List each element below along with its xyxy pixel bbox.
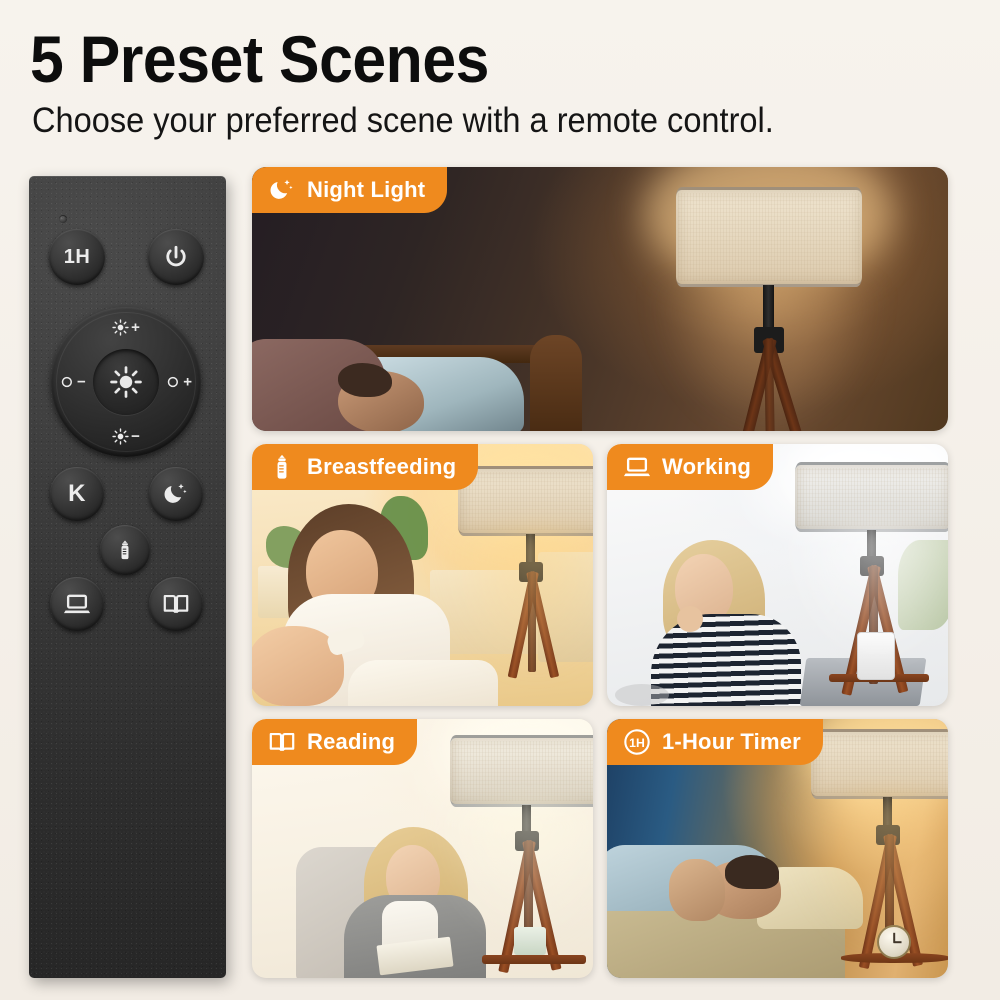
open-book-icon: [268, 728, 296, 756]
lamp-shade: [795, 462, 948, 532]
laptop-icon: [63, 590, 91, 618]
page-title: 5 Preset Scenes: [30, 26, 489, 92]
remote-button-k-label: K: [68, 480, 86, 508]
remote-button-reading[interactable]: [149, 577, 203, 631]
page-subtitle: Choose your preferred scene with a remot…: [32, 103, 774, 138]
timer-1h-icon: 1H: [623, 728, 651, 756]
scene-label-reading: Reading: [307, 729, 395, 755]
scene-badge-breastfeeding[interactable]: Breastfeeding: [252, 444, 478, 490]
remote-button-breastfeeding[interactable]: [100, 525, 150, 575]
alarm-clock: [877, 925, 911, 959]
lamp-shade: [676, 187, 862, 287]
led-indicator-icon: [59, 215, 67, 223]
woman-hand: [677, 606, 703, 632]
lamp-shelf: [482, 955, 586, 964]
striped-shirt: [651, 614, 801, 706]
remote-dpad[interactable]: + − − +: [51, 307, 201, 457]
remote-button-working[interactable]: [50, 577, 104, 631]
lamp-remote-control[interactable]: 1H +: [29, 176, 226, 978]
open-book-icon: [162, 590, 190, 618]
scene-badge-working[interactable]: Working: [607, 444, 773, 490]
scene-label-one-hour-timer: 1-Hour Timer: [662, 729, 801, 755]
dpad-color-temp-down[interactable]: −: [60, 374, 86, 391]
remote-button-k[interactable]: K: [50, 467, 104, 521]
pencil-cup: [514, 927, 546, 955]
lamp-shade: [458, 466, 593, 536]
scene-badge-one-hour-timer[interactable]: 1H 1-Hour Timer: [607, 719, 823, 765]
dpad-brightness-up[interactable]: +: [51, 319, 201, 336]
product-feature-graphic: 5 Preset Scenes Choose your preferred sc…: [0, 0, 1000, 1000]
dpad-down-label: −: [131, 428, 140, 445]
dpad-up-label: +: [131, 319, 140, 336]
brightness-sun-icon: [109, 365, 143, 399]
brightness-down-icon: [112, 428, 129, 445]
scene-label-breastfeeding: Breastfeeding: [307, 454, 456, 480]
moon-stars-icon: [162, 480, 190, 508]
scene-card-one-hour-timer[interactable]: 1H 1-Hour Timer: [607, 719, 948, 978]
scene-badge-reading[interactable]: Reading: [252, 719, 417, 765]
brightness-up-icon: [112, 319, 129, 336]
lamp-shade: [450, 735, 593, 807]
desk-object: [615, 684, 669, 706]
remote-button-1h-label: 1H: [64, 246, 91, 269]
dpad-center-button[interactable]: [93, 349, 159, 415]
color-temp-up-icon: [166, 375, 181, 390]
scene-label-working: Working: [662, 454, 751, 480]
remote-button-power[interactable]: [148, 229, 204, 285]
bed-headboard: [530, 335, 582, 431]
tripod-floor-lamp: [797, 725, 948, 977]
remote-button-1h[interactable]: 1H: [49, 229, 105, 285]
scene-card-night-light[interactable]: Night Light: [252, 167, 948, 431]
scene-badge-night-light[interactable]: Night Light: [252, 167, 447, 213]
dpad-color-temp-up[interactable]: +: [166, 374, 192, 391]
baby-bottle-icon: [114, 539, 136, 561]
woman-arm: [669, 859, 725, 921]
power-icon: [162, 244, 190, 270]
tripod-floor-lamp: [440, 729, 593, 977]
scene-label-night-light: Night Light: [307, 177, 425, 203]
svg-text:1H: 1H: [629, 736, 645, 750]
tripod-floor-lamp: [785, 456, 948, 696]
lamp-leg-back: [528, 572, 536, 672]
shelf-vase: [857, 632, 895, 680]
scene-card-working[interactable]: Working: [607, 444, 948, 706]
person-hair: [338, 363, 392, 397]
remote-button-night-light[interactable]: [149, 467, 203, 521]
dpad-left-label: −: [77, 374, 86, 391]
lamp-shade: [811, 729, 948, 799]
color-temp-down-icon: [60, 375, 75, 390]
dpad-right-label: +: [183, 374, 192, 391]
scene-card-reading[interactable]: Reading: [252, 719, 593, 978]
woman-hair: [725, 855, 779, 889]
dpad-brightness-down[interactable]: −: [51, 428, 201, 445]
scene-card-breastfeeding[interactable]: Breastfeeding: [252, 444, 593, 706]
moon-stars-icon: [268, 176, 296, 204]
lamp-leg-back: [764, 339, 775, 431]
tripod-floor-lamp: [448, 460, 593, 690]
laptop-icon: [623, 453, 651, 481]
lamp-stem: [763, 285, 774, 333]
baby-bottle-icon: [268, 453, 296, 481]
tripod-floor-lamp: [658, 179, 878, 431]
